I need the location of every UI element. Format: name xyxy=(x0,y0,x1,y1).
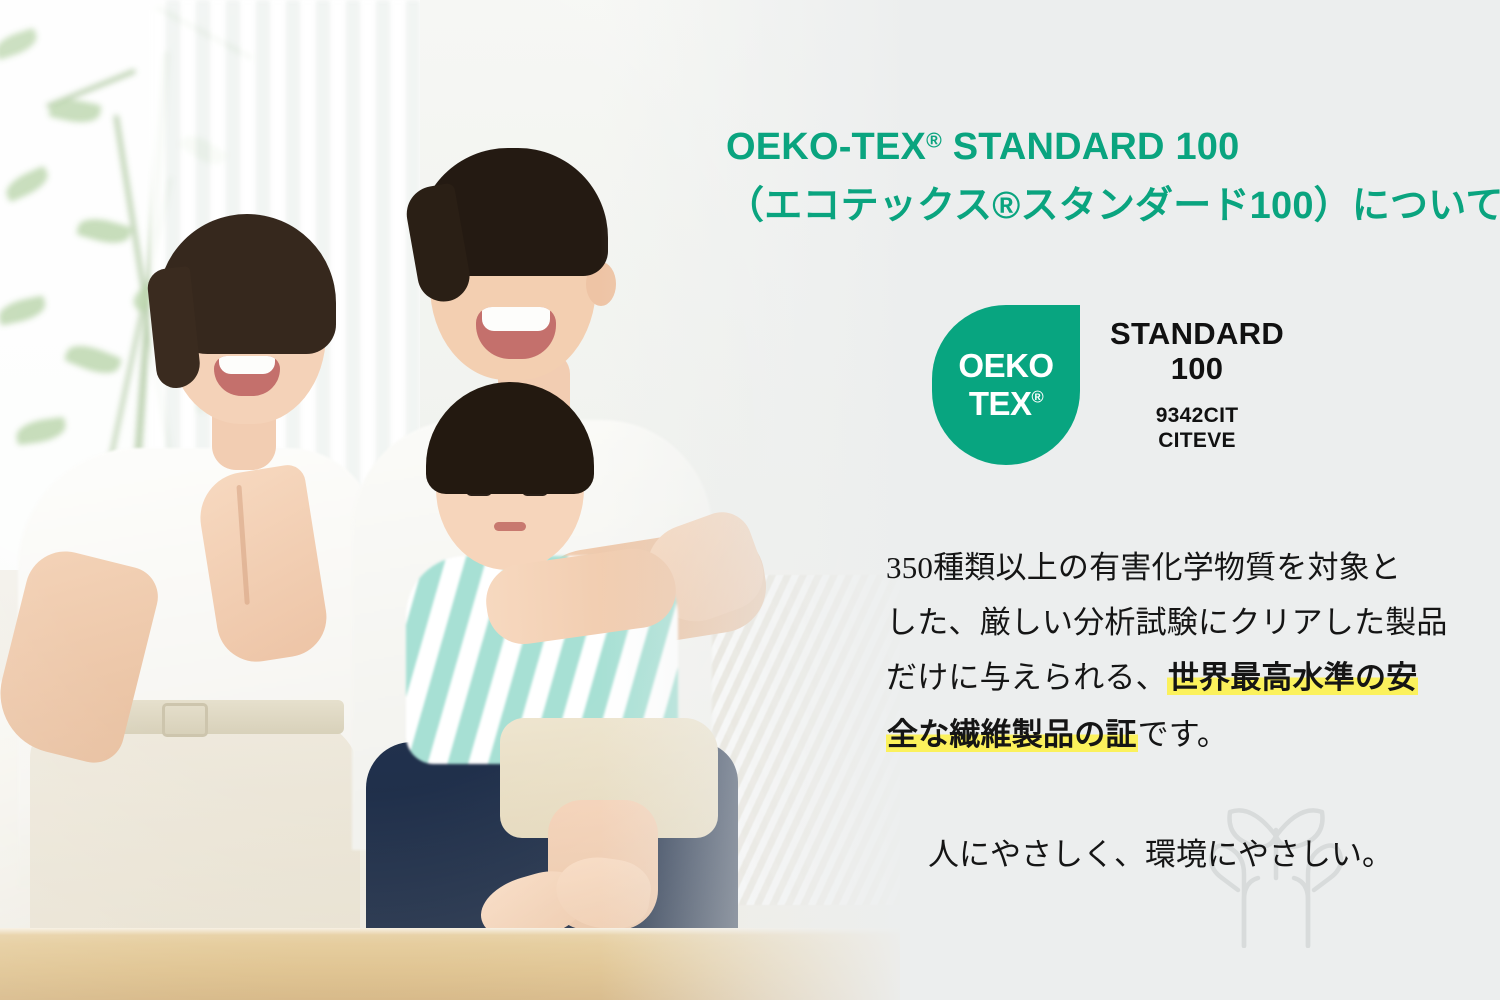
certificate-number: 9342CIT xyxy=(1110,403,1284,428)
registered-mark-icon: ® xyxy=(926,128,942,152)
body-line-4-highlight: 全な繊維製品の証 xyxy=(886,717,1138,753)
standard-label-line-2: 100 xyxy=(1110,352,1284,387)
standard-label-line-1: STANDARD xyxy=(1110,317,1284,352)
title-line-1-pre: OEKO-TEX xyxy=(726,126,926,168)
body-line-3-highlight: 世界最高水準の安 xyxy=(1167,660,1419,696)
body-line-4: 全な繊維製品の証です。 xyxy=(886,707,1406,763)
oeko-tex-promo-banner: OEKO-TEX® STANDARD 100 （エコテックス®スタンダード100… xyxy=(0,0,1500,1000)
body-copy: 350種類以上の有害化学物質を対象と した、厳しい分析試験にクリアした製品 だけ… xyxy=(886,540,1406,763)
body-line-3: だけに与えられる、世界最高水準の安 xyxy=(886,650,1406,706)
certification-details: STANDARD 100 9342CIT CITEVE xyxy=(1110,317,1284,453)
closing-tagline: 人にやさしく、環境にやさしい。 xyxy=(928,832,1393,879)
oeko-tex-droplet-logo: OEKO TEX® xyxy=(932,305,1080,465)
logo-line-tex: TEX® xyxy=(969,387,1043,422)
body-line-1: 350種類以上の有害化学物質を対象と xyxy=(886,540,1406,595)
body-line-2: した、厳しい分析試験にクリアした製品 xyxy=(886,595,1406,650)
logo-line-oeko: OEKO xyxy=(958,349,1053,384)
title-line-1: OEKO-TEX® STANDARD 100 xyxy=(726,118,1446,177)
body-line-4-plain: です。 xyxy=(1138,717,1229,752)
closing-section: 人にやさしく、環境にやさしい。 xyxy=(886,790,1406,940)
title-line-1-post: STANDARD 100 xyxy=(942,126,1240,168)
certifying-institute: CITEVE xyxy=(1110,428,1284,453)
logo-registered-mark-icon: ® xyxy=(1032,388,1044,406)
content-column: OEKO-TEX® STANDARD 100 （エコテックス®スタンダード100… xyxy=(700,0,1500,1000)
title-line-2: （エコテックス®スタンダード100）について xyxy=(726,177,1446,236)
page-title: OEKO-TEX® STANDARD 100 （エコテックス®スタンダード100… xyxy=(726,118,1446,236)
body-line-3-plain: だけに与えられる、 xyxy=(886,660,1167,695)
certification-mark: OEKO TEX® STANDARD 100 9342CIT CITEVE xyxy=(932,305,1284,465)
